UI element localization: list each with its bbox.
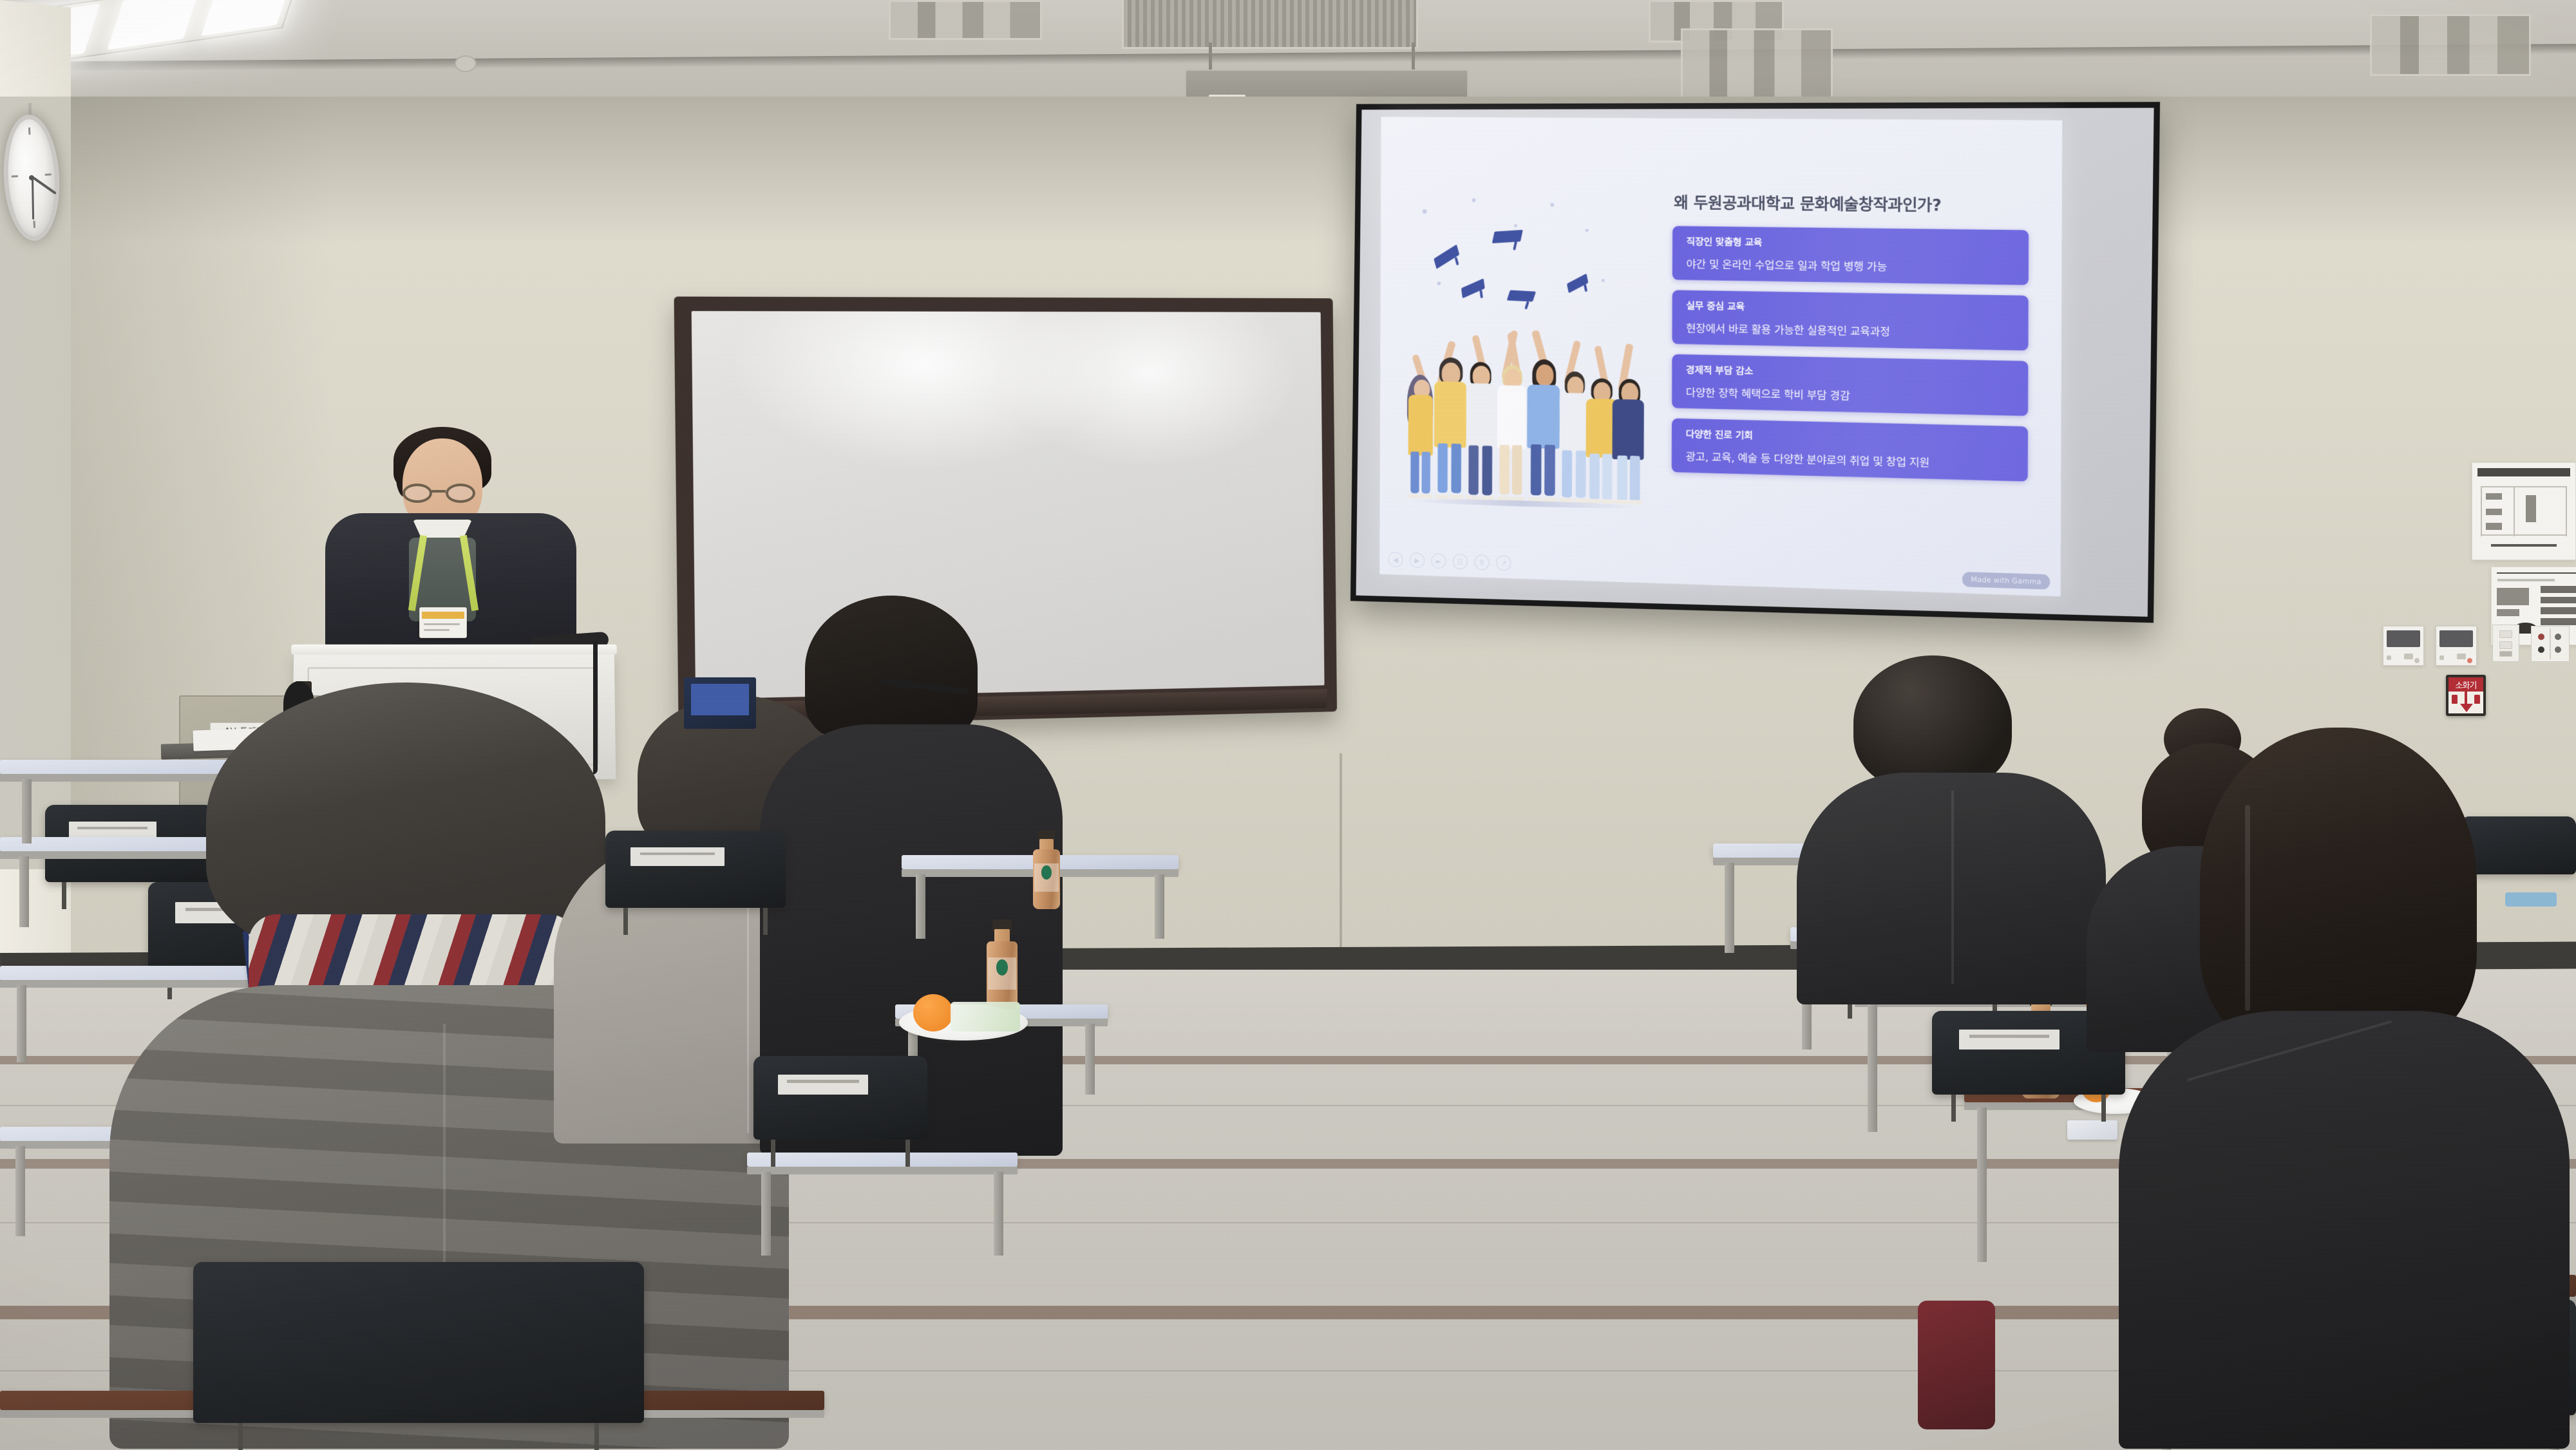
bottled-coffee	[985, 919, 1019, 1010]
graduation-cap-icon	[1461, 282, 1486, 303]
search-icon[interactable]: ⚲	[1475, 554, 1490, 570]
fire-extinguisher-sign: 소화기	[2446, 675, 2486, 716]
graduation-cap-icon	[1506, 287, 1535, 313]
bottled-coffee	[1032, 831, 1061, 909]
phone[interactable]	[2067, 1120, 2117, 1140]
classroom-photo-scene: 왜 두원공과대학교 문화예술창작과인가? 직장인 맞춤형 교육 야간 및 온라인…	[0, 0, 2576, 1450]
thermostat-display	[2387, 630, 2420, 647]
feature-subtext: 현장에서 바로 활용 가능한 실용적인 교육과정	[1686, 319, 2014, 341]
graduation-cap-icon	[1491, 228, 1522, 254]
slide-title: 왜 두원공과대학교 문화예술창작과인가?	[1674, 190, 2050, 217]
attendee-hair	[1853, 655, 2012, 791]
chevron-left-icon[interactable]: ◀	[1388, 552, 1403, 567]
thermostat-panel-2[interactable]	[2436, 626, 2477, 666]
thermostat-panel-1[interactable]	[2383, 626, 2424, 666]
asset-tag	[1959, 1030, 2060, 1050]
tangerine	[913, 994, 953, 1031]
podium-top-edge	[291, 645, 617, 655]
ceiling-smoke-detector	[455, 55, 477, 72]
feature-heading: 실무 중심 교육	[1686, 299, 2014, 317]
feature-heading: 직장인 맞춤형 교육	[1687, 234, 2014, 252]
graduation-cap-icon	[1433, 248, 1463, 273]
share-icon[interactable]: ↗	[1496, 555, 1511, 570]
thermostat-display	[2439, 630, 2473, 647]
slide-feature-box-1: 직장인 맞춤형 교육 야간 및 온라인 수업으로 일과 학업 병행 가능	[1672, 226, 2029, 285]
play-icon[interactable]: ►	[1431, 553, 1446, 569]
presenter-name-badge	[419, 607, 467, 638]
attendee-top	[2119, 1011, 2570, 1449]
wall-poster-floorplan	[2472, 462, 2576, 560]
graduate-figure	[1495, 329, 1529, 501]
feature-heading: 경제적 부담 감소	[1686, 363, 2014, 383]
wall-panel-seam	[1340, 753, 1342, 959]
slide-feature-box-2: 실무 중심 교육 현장에서 바로 활용 가능한 실용적인 교육과정	[1672, 290, 2028, 351]
eyeglasses-bridge	[431, 490, 446, 493]
outlet-plate-right[interactable]	[2531, 626, 2570, 662]
ceiling-ac-grille	[1122, 0, 1418, 49]
chair[interactable]	[605, 831, 786, 908]
slide-feature-box-3: 경제적 부담 감소 다양한 장학 혜택으로 학비 부담 경감	[1672, 354, 2028, 416]
graduate-figure	[1526, 328, 1561, 502]
graduate-figure	[1406, 353, 1436, 499]
feature-subtext: 다양한 장학 혜택으로 학비 부담 경감	[1686, 383, 2014, 406]
vest-seam	[1951, 791, 1954, 984]
graduate-figure	[1433, 339, 1468, 500]
ceiling-air-vent-4	[2370, 14, 2531, 76]
chevron-right-icon[interactable]: ▶	[1410, 552, 1425, 568]
projector-mount-rod-1	[1209, 42, 1212, 73]
projection-screen: 왜 두원공과대학교 문화예술창작과인가? 직장인 맞춤형 교육 야간 및 온라인…	[1350, 102, 2160, 623]
asset-tag	[630, 847, 724, 866]
feature-subtext: 야간 및 온라인 수업으로 일과 학업 병행 가능	[1686, 255, 2014, 276]
projector-mount-rod-2	[1412, 42, 1415, 73]
attendee-right-front	[2119, 728, 2576, 1450]
ceiling-air-vent-3	[1681, 28, 1833, 99]
attendee-hair	[2200, 728, 2477, 1050]
chair[interactable]	[753, 1056, 927, 1140]
eyeglasses-right-lens	[446, 484, 475, 503]
graduate-figure	[1464, 334, 1497, 500]
laptop-screen	[691, 684, 749, 716]
slide-feature-box-4: 다양한 진로 기회 광고, 교육, 예술 등 다양한 분야로의 취업 및 창업 …	[1672, 419, 2028, 482]
attendee-hair-strand	[2245, 805, 2250, 1011]
thermostat-buttons[interactable]	[2387, 652, 2420, 662]
graduates-illustration	[1398, 187, 1649, 510]
attendee-hair	[805, 596, 978, 742]
asset-tag	[778, 1075, 868, 1095]
presentation-slide: 왜 두원공과대학교 문화예술창작과인가? 직장인 맞춤형 교육 야간 및 온라인…	[1379, 117, 2062, 596]
feature-subtext: 광고, 교육, 예술 등 다양한 분야로의 취업 및 창업 지원	[1685, 447, 2013, 472]
attendee-right-back	[1797, 655, 2119, 1016]
wall-top-shading	[0, 97, 2576, 245]
slide-watermark-badge[interactable]: Made with Gamma	[1962, 572, 2050, 590]
eyeglasses-left-lens	[402, 484, 432, 503]
ceiling-air-vent-1	[889, 0, 1042, 40]
presenter	[299, 422, 602, 711]
fire-sign-label: 소화기	[2448, 677, 2483, 692]
blue-object-on-desk	[2505, 892, 2557, 907]
snack-wrapper	[951, 1002, 1020, 1031]
grid-icon[interactable]: ☷	[1453, 554, 1468, 569]
slide-toolbar[interactable]: ◀ ▶ ► ☷ ⚲ ↗	[1388, 552, 1511, 571]
graduation-cap-icon	[1566, 276, 1591, 297]
poster-title-bar	[2477, 468, 2570, 477]
light-switch-plate[interactable]	[2492, 625, 2519, 662]
graduate-figure	[1612, 343, 1645, 505]
red-bag-under-desk	[1918, 1301, 1995, 1429]
thermostat-buttons[interactable]	[2439, 652, 2473, 662]
feature-heading: 다양한 진로 기회	[1686, 427, 2014, 448]
laptop[interactable]	[684, 677, 756, 729]
chair[interactable]	[193, 1262, 644, 1423]
